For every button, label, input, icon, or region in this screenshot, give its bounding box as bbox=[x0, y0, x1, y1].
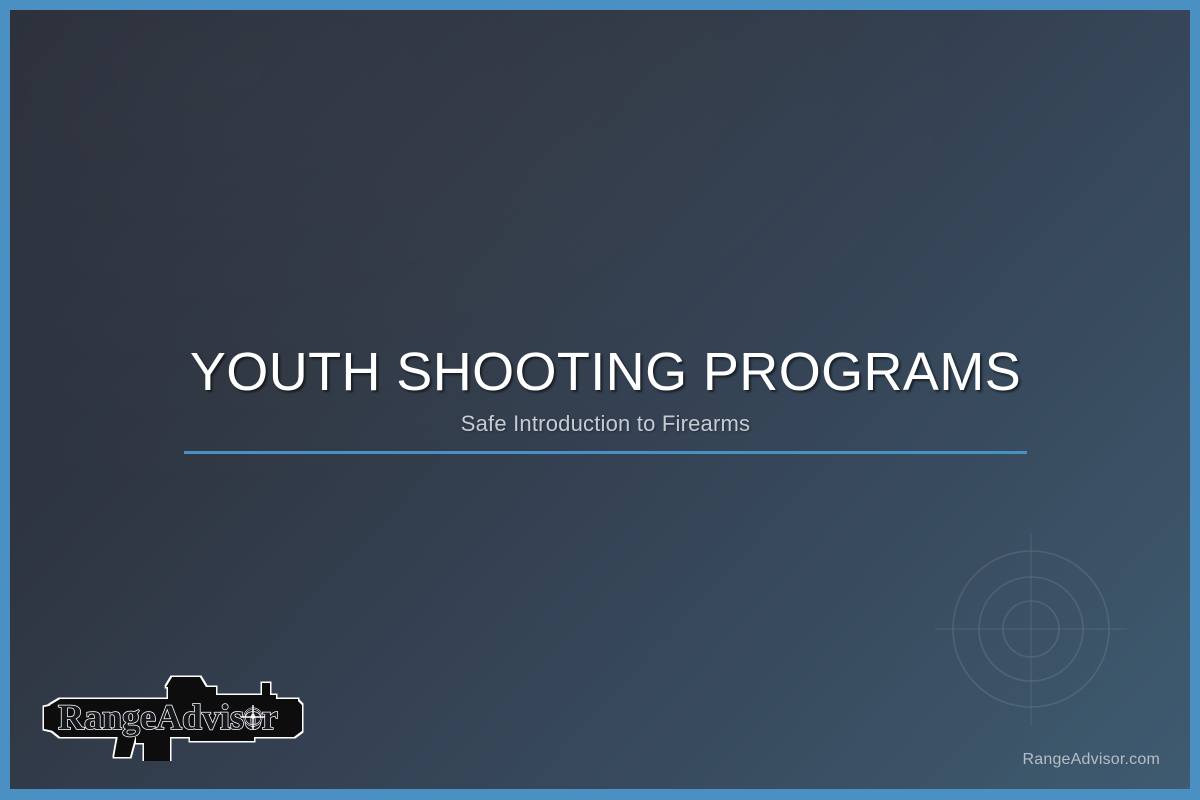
page-title: YOUTH SHOOTING PROGRAMS bbox=[184, 343, 1027, 401]
presentation-slide: YOUTH SHOOTING PROGRAMS Safe Introductio… bbox=[0, 0, 1200, 800]
page-subtitle: Safe Introduction to Firearms bbox=[184, 411, 1027, 437]
crosshair-target-icon bbox=[921, 519, 1141, 739]
title-block: YOUTH SHOOTING PROGRAMS Safe Introductio… bbox=[184, 343, 1027, 454]
footer-website-label: RangeAdvisor.com bbox=[1023, 751, 1161, 769]
slide-canvas: YOUTH SHOOTING PROGRAMS Safe Introductio… bbox=[10, 10, 1190, 789]
rifle-silhouette-logo-icon: RangeAdvisor bbox=[40, 669, 320, 761]
title-divider bbox=[184, 451, 1027, 454]
